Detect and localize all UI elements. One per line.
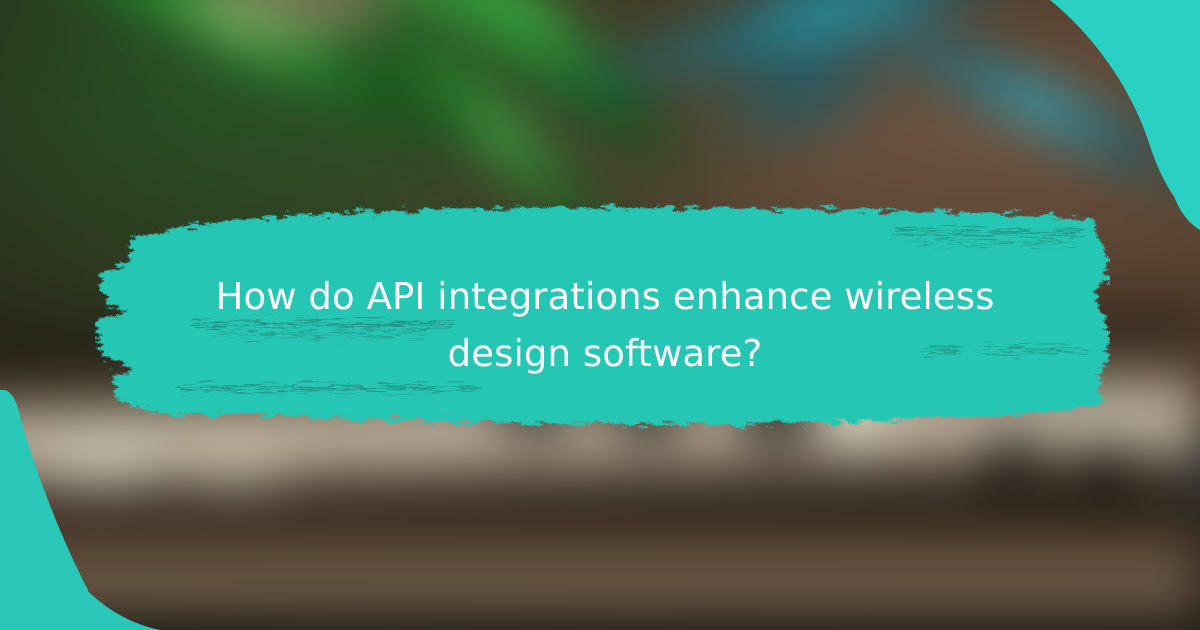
headline-line-2: design software? bbox=[150, 325, 1060, 382]
background-switch-panel-lower bbox=[0, 500, 1200, 610]
page-title: How do API integrations enhance wireless… bbox=[150, 268, 1060, 382]
headline-line-1: How do API integrations enhance wireless bbox=[150, 268, 1060, 325]
ethernet-port-5 bbox=[1068, 440, 1138, 502]
social-share-card: How do API integrations enhance wireless… bbox=[0, 0, 1200, 630]
background-highlight-2 bbox=[40, 440, 170, 488]
background-highlight-3 bbox=[180, 452, 290, 492]
